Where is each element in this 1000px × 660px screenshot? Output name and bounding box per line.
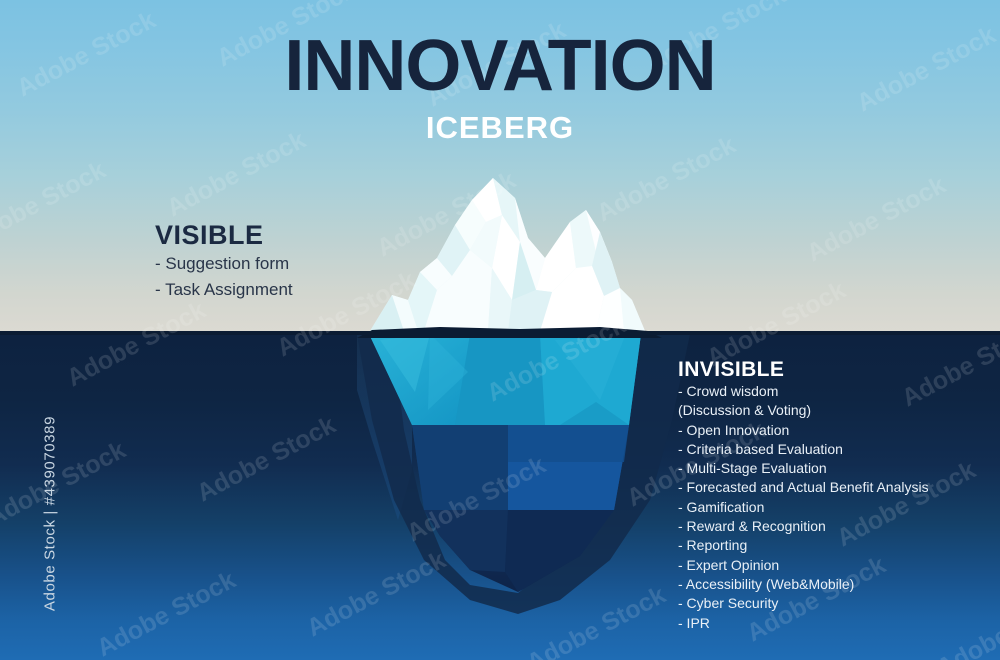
list-item: - Suggestion form — [155, 251, 455, 277]
list-item: - Reporting — [678, 536, 998, 555]
invisible-heading: INVISIBLE — [678, 357, 998, 382]
list-item: - Accessibility (Web&Mobile) — [678, 575, 998, 594]
infographic-canvas: Adobe Stock Adobe Stock Adobe Stock Adob… — [0, 0, 1000, 660]
iceberg-band-cyan — [369, 334, 641, 425]
list-item: - Multi-Stage Evaluation — [678, 459, 998, 478]
list-item: (Discussion & Voting) — [678, 401, 998, 420]
page-title: INNOVATION — [0, 30, 1000, 102]
stock-credit-label: Adobe Stock | #439070389 — [42, 394, 59, 634]
list-item: - Expert Opinion — [678, 556, 998, 575]
list-item: - Gamification — [678, 498, 998, 517]
invisible-section: INVISIBLE - Crowd wisdom (Discussion & V… — [678, 357, 998, 633]
list-item: - IPR — [678, 614, 998, 633]
list-item: - Reward & Recognition — [678, 517, 998, 536]
list-item: - Task Assignment — [155, 277, 455, 303]
page-subtitle: ICEBERG — [0, 112, 1000, 143]
iceberg-band-mid-blue — [412, 425, 629, 510]
list-item: - Open Innovation — [678, 421, 998, 440]
visible-section: VISIBLE - Suggestion form - Task Assignm… — [155, 220, 455, 303]
waterline-divider — [0, 331, 1000, 335]
list-item: - Criteria based Evaluation — [678, 440, 998, 459]
list-item: - Forecasted and Actual Benefit Analysis — [678, 478, 998, 497]
visible-heading: VISIBLE — [155, 220, 455, 251]
list-item: - Cyber Security — [678, 594, 998, 613]
list-item: - Crowd wisdom — [678, 382, 998, 401]
